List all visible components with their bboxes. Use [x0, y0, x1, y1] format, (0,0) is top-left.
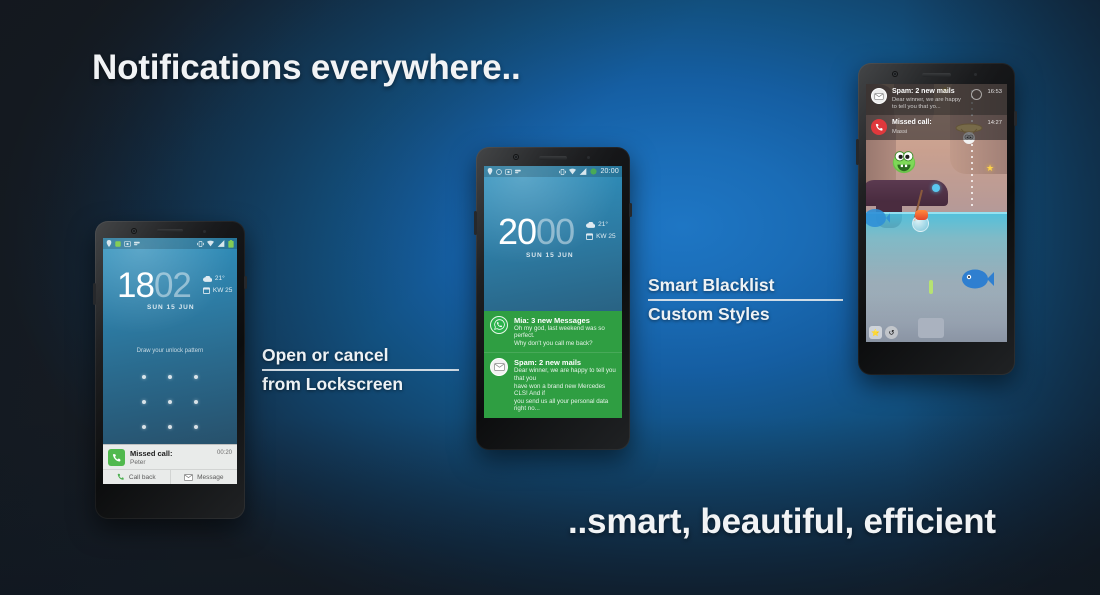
- clock-minutes: 02: [154, 268, 191, 303]
- screenshot-icon: [505, 169, 512, 175]
- notification-time: 14:27: [987, 119, 1002, 126]
- missed-call-notification[interactable]: Missed call: Peter 00:20 Call back Messa…: [103, 444, 237, 484]
- notification-subtitle: Massi: [892, 129, 982, 136]
- notification-title: Mia: 3 new Messages: [514, 316, 616, 325]
- unlock-pattern-grid[interactable]: [131, 364, 209, 440]
- battery-icon: [590, 168, 597, 175]
- caption-blacklist: Smart Blacklist Custom Styles: [648, 275, 843, 325]
- earpiece-speaker: [157, 229, 183, 232]
- pattern-dot[interactable]: [168, 425, 172, 429]
- whatsapp-icon: [490, 316, 508, 334]
- earpiece-speaker: [539, 156, 567, 160]
- notification-line1: Dear winner, we are happy to tell you th…: [514, 367, 616, 382]
- clock-hours: 18: [117, 268, 154, 303]
- back-icon[interactable]: ↺: [885, 326, 898, 339]
- fish-icon: [866, 206, 890, 235]
- weather-temperature: 21°: [215, 275, 225, 282]
- envelope-icon: [490, 358, 508, 376]
- page-title: Notifications everywhere..: [92, 48, 521, 88]
- status-bar-right: [197, 240, 234, 248]
- clock-hours: 20: [498, 214, 536, 250]
- status-bar: [103, 238, 237, 249]
- battery-icon: [228, 240, 234, 248]
- front-camera-icon: [132, 229, 136, 233]
- lockscreen-date: SUN 15 JUN: [526, 252, 574, 259]
- pattern-dot[interactable]: [168, 375, 172, 379]
- power-button[interactable]: [1014, 111, 1017, 126]
- notification-text: Mia: 3 new Messages Oh my god, last week…: [514, 316, 616, 348]
- caption-blacklist-line2: Custom Styles: [648, 304, 843, 325]
- notification-actions: Call back Message: [103, 469, 237, 484]
- notification-main: Missed call: Peter 00:20: [103, 445, 237, 469]
- caption-divider: [262, 369, 459, 371]
- lockscreen-date: SUN 15 JUN: [147, 304, 195, 311]
- notification-body: Spam: 2 new mails Dear winner, we are ha…: [892, 88, 966, 111]
- notification-time: 16:53: [987, 88, 1002, 95]
- calendar-week: KW 25: [213, 287, 233, 294]
- notification-text: Spam: 2 new mails Dear winner, we are ha…: [514, 358, 616, 413]
- location-icon: [487, 168, 493, 175]
- candy-icon[interactable]: [915, 210, 928, 220]
- phone-middle-screen[interactable]: 20:00 2000 21° KW 25 SU: [484, 166, 622, 418]
- vibrate-icon: [197, 241, 204, 247]
- lockscreen-clock-row: 2000 21° KW 25: [498, 214, 616, 250]
- clock-minutes: 00: [536, 214, 574, 250]
- front-camera-icon: [893, 72, 897, 76]
- cloud-icon: [203, 276, 212, 282]
- pattern-dot[interactable]: [194, 375, 198, 379]
- phone-green-icon: [108, 449, 125, 466]
- proximity-sensor-icon: [974, 73, 977, 76]
- seaweed-icon: [929, 280, 933, 294]
- notification-spam[interactable]: Spam: 2 new mails Dear winner, we are ha…: [866, 84, 1007, 115]
- sync-icon: [496, 169, 502, 175]
- lockscreen-clock-row: 1802 21° KW 25: [117, 268, 232, 303]
- status-bar-clock: 20:00: [600, 168, 619, 175]
- lockscreen-weather-widget[interactable]: 21° KW 25: [586, 221, 616, 240]
- weather-temperature: 21°: [598, 221, 608, 228]
- poster-canvas: Notifications everywhere.. Open or cance…: [0, 0, 1100, 595]
- calendar-icon: [203, 287, 210, 294]
- lockscreen-clock: 2000: [498, 214, 574, 250]
- phone-red-icon: [871, 119, 887, 135]
- om-nom-character-icon: [890, 146, 918, 179]
- phone-left-screen[interactable]: 1802 21° KW 25 SUN 15 JUN Draw your unlo…: [103, 238, 237, 484]
- screenshot-icon: [124, 241, 131, 247]
- front-camera-icon: [514, 155, 518, 159]
- heads-up-notifications[interactable]: Spam: 2 new mails Dear winner, we are ha…: [866, 84, 1007, 140]
- caption-lockscreen-line1: Open or cancel: [262, 345, 459, 366]
- phone-icon: [117, 473, 125, 481]
- phone-left: 1802 21° KW 25 SUN 15 JUN Draw your unlo…: [95, 221, 245, 519]
- page-tagline: ..smart, beautiful, efficient: [568, 502, 996, 542]
- notification-title: Spam: 2 new mails: [892, 88, 966, 96]
- pattern-dot[interactable]: [142, 375, 146, 379]
- signal-icon: [579, 168, 587, 175]
- star-counter-icon[interactable]: ⭐: [869, 326, 882, 339]
- dismiss-circle-icon[interactable]: [971, 89, 982, 100]
- wifi-icon: [569, 168, 576, 175]
- notification-line2: have won a brand new Mercedes CLS! And i…: [514, 383, 616, 398]
- pattern-dot[interactable]: [194, 400, 198, 404]
- call-back-label: Call back: [129, 474, 156, 481]
- caption-lockscreen: Open or cancel from Lockscreen: [262, 345, 459, 395]
- notification-body: Missed call: Massi: [892, 119, 982, 135]
- message-button[interactable]: Message: [170, 470, 238, 484]
- phone-middle: 20:00 2000 21° KW 25 SU: [476, 147, 630, 450]
- pattern-dot[interactable]: [142, 400, 146, 404]
- caption-lockscreen-line2: from Lockscreen: [262, 374, 459, 395]
- lockscreen-weather-widget[interactable]: 21° KW 25: [203, 275, 233, 294]
- wifi-icon: [207, 240, 214, 247]
- volume-button[interactable]: [856, 139, 859, 165]
- game-hud: ⭐ ↺: [869, 326, 898, 339]
- envelope-icon: [871, 88, 887, 104]
- notification-time: 00:20: [217, 449, 232, 456]
- calendar-week: KW 25: [596, 233, 616, 240]
- calendar-row: KW 25: [586, 233, 616, 240]
- earpiece-speaker: [922, 73, 951, 77]
- green-notification-panel[interactable]: Mia: 3 new Messages Oh my god, last week…: [484, 311, 622, 418]
- volume-button[interactable]: [93, 283, 96, 305]
- phone-right: ★ ★: [858, 63, 1015, 375]
- proximity-sensor-icon: [587, 156, 590, 159]
- weather-row: 21°: [586, 221, 616, 228]
- notification-missed-call[interactable]: Missed call: Massi 14:27: [866, 115, 1007, 139]
- sync-icon: [115, 241, 121, 247]
- notification-line1: Oh my god, last weekend was so perfect.: [514, 325, 616, 340]
- power-button[interactable]: [244, 276, 247, 289]
- status-bar-left: [487, 168, 523, 175]
- pattern-dot[interactable]: [194, 425, 198, 429]
- notification-title: Missed call:: [130, 449, 212, 458]
- caption-divider: [648, 299, 843, 301]
- notification-item-messages[interactable]: Mia: 3 new Messages Oh my god, last week…: [484, 311, 622, 353]
- pattern-dot[interactable]: [168, 400, 172, 404]
- status-bar: 20:00: [484, 166, 622, 177]
- location-icon: [106, 240, 112, 247]
- notification-subtitle: Dear winner, we are happy to tell you th…: [892, 97, 966, 111]
- lockscreen-clock: 1802: [117, 268, 191, 303]
- keyboard-icon: [134, 241, 142, 246]
- fish-icon: [961, 266, 995, 297]
- seabed-block: [918, 318, 944, 338]
- pattern-dot[interactable]: [142, 425, 146, 429]
- vibrate-icon: [559, 169, 566, 175]
- notification-line3: you send us all your personal data right…: [514, 398, 616, 413]
- status-bar-right: 20:00: [559, 168, 619, 175]
- envelope-icon: [184, 474, 193, 481]
- rope-anchor-icon[interactable]: [932, 184, 940, 192]
- notification-item-spam[interactable]: Spam: 2 new mails Dear winner, we are ha…: [484, 352, 622, 418]
- message-label: Message: [197, 474, 223, 481]
- calendar-icon: [586, 233, 593, 240]
- cloud-icon: [586, 222, 595, 228]
- signal-icon: [217, 240, 225, 247]
- notification-title: Spam: 2 new mails: [514, 358, 616, 367]
- caption-blacklist-line1: Smart Blacklist: [648, 275, 843, 296]
- notification-title: Missed call:: [892, 119, 982, 127]
- power-button[interactable]: [629, 203, 632, 217]
- volume-button[interactable]: [474, 211, 477, 235]
- status-bar-left: [106, 240, 142, 247]
- keyboard-icon: [515, 169, 523, 174]
- unlock-hint-label: Draw your unlock pattern: [103, 348, 237, 354]
- star-icon[interactable]: ★: [986, 163, 994, 174]
- phone-right-screen[interactable]: ★ ★: [866, 84, 1007, 342]
- calendar-row: KW 25: [203, 287, 233, 294]
- notification-line2: Why don't you call me back?: [514, 340, 616, 348]
- call-back-button[interactable]: Call back: [103, 470, 170, 484]
- notification-subtitle: Peter: [130, 459, 212, 467]
- notification-body: Missed call: Peter: [130, 449, 212, 467]
- proximity-sensor-icon: [203, 230, 206, 233]
- weather-row: 21°: [203, 275, 233, 282]
